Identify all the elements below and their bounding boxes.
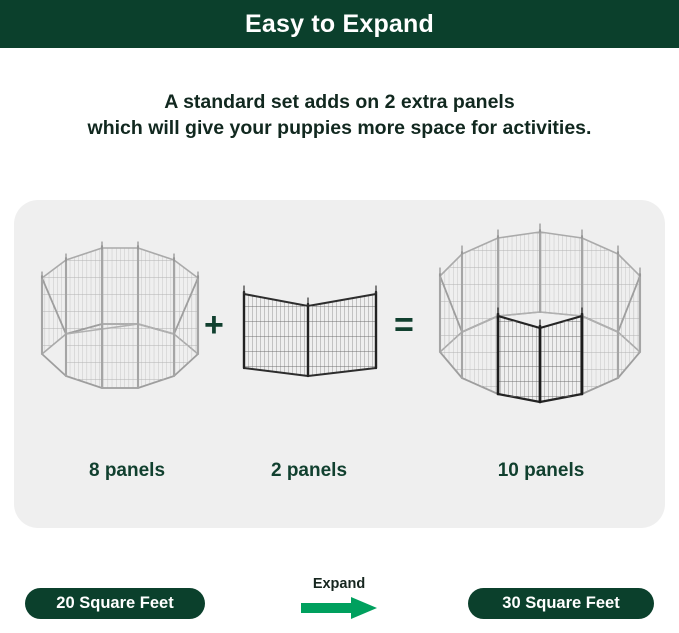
page-title: Easy to Expand (245, 10, 434, 39)
two-panel-pair-icon (236, 276, 384, 380)
header-banner: Easy to Expand (0, 0, 679, 48)
decagon-pen-10-icon (432, 216, 650, 420)
subtitle-block: A standard set adds on 2 extra panels wh… (0, 90, 679, 141)
equals-operator-icon: = (394, 308, 414, 342)
area-badge-after: 30 Square Feet (468, 588, 654, 619)
arrow-right-icon (301, 597, 377, 619)
octagon-pen-8-icon (32, 226, 222, 416)
caption-10-panels: 10 panels (432, 460, 650, 482)
subtitle-line-2: which will give your puppies more space … (0, 116, 679, 142)
expand-label: Expand (269, 576, 409, 592)
expand-indicator: Expand (269, 576, 409, 619)
area-badge-before: 20 Square Feet (25, 588, 205, 619)
subtitle-line-1: A standard set adds on 2 extra panels (0, 90, 679, 116)
diagram-panel: + (14, 200, 665, 528)
footer-row: 20 Square Feet Expand 30 Square Feet (0, 548, 679, 633)
caption-8-panels: 8 panels (32, 460, 222, 482)
plus-operator-icon: + (204, 308, 224, 342)
caption-2-panels: 2 panels (224, 460, 394, 482)
